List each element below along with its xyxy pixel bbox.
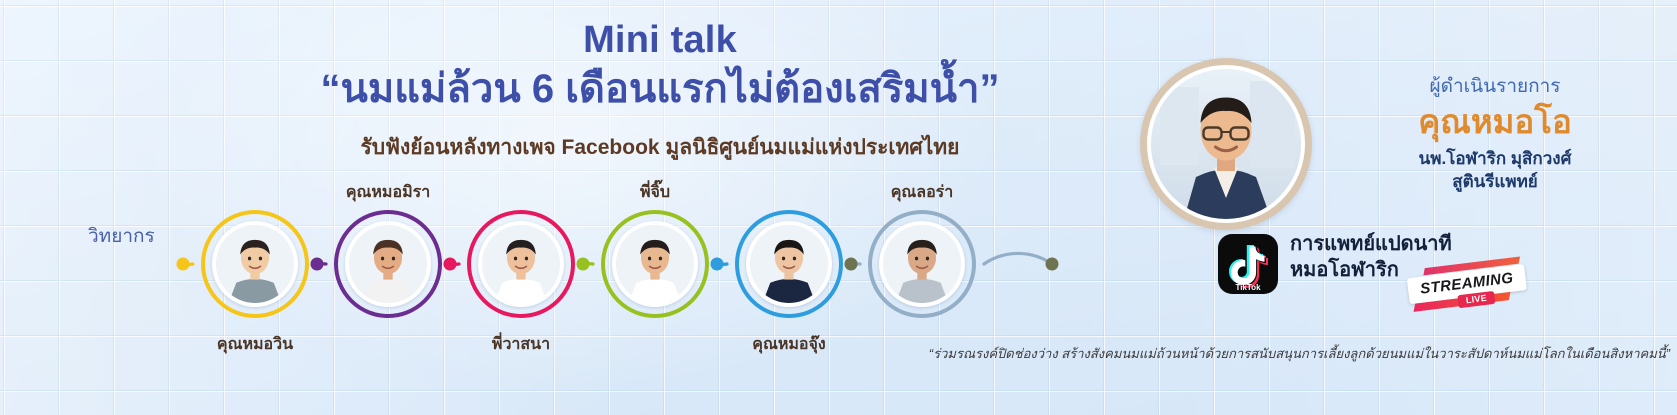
headline-block: Mini talk “นมแม่ล้วน 6 เดือนแรกไม่ต้องเส… [230,20,1090,164]
page-title-th: “นมแม่ล้วน 6 เดือนแรกไม่ต้องเสริมน้ำ” [230,64,1090,114]
speaker-name: พี่วาสนา [436,332,606,357]
speaker-name: คุณลอร่า [837,180,1007,205]
speaker-avatar[interactable] [746,221,832,307]
speaker-avatar[interactable] [612,221,698,307]
tiktok-icon[interactable]: TikTok [1218,234,1278,294]
speaker-name: คุณหมอมิรา [303,180,473,205]
event-banner: Mini talk “นมแม่ล้วน 6 เดือนแรกไม่ต้องเส… [0,0,1677,415]
host-name: คุณหมอโอ [1325,101,1665,142]
speaker-avatar[interactable] [345,221,431,307]
speaker-name: คุณหมอวิน [170,332,340,357]
page-title-en: Mini talk [230,20,1090,62]
timeline-arc [984,253,1052,264]
speaker-name: พี่จิ๊บ [570,180,740,205]
timeline-dot [444,258,457,271]
speaker-avatar[interactable] [478,221,564,307]
host-role: ผู้ดำเนินรายการ [1325,76,1665,99]
timeline-dot [577,258,590,271]
timeline-dot [311,258,324,271]
timeline-dot [845,258,858,271]
host-photo-frame [1140,58,1312,230]
speaker-avatar[interactable] [212,221,298,307]
speakers-timeline: วิทยากร คุณหมอวินคุณหมอมิราพี่วาสนาพี่จิ… [0,176,1060,351]
timeline-dot [711,258,724,271]
host-credential-line1: นพ.โอฬาริก มุสิกวงศ์ [1325,148,1665,171]
timeline-dot [1046,258,1059,271]
timeline-dot [177,258,190,271]
tiktok-wordmark: TikTok [1235,283,1261,292]
host-text-block: ผู้ดำเนินรายการ คุณหมอโอ นพ.โอฬาริก มุสิ… [1325,76,1665,194]
host-credential-line2: สูตินรีแพทย์ [1325,171,1665,194]
avatar [1151,69,1301,219]
speaker-avatar[interactable] [879,221,965,307]
footer-note: “ร่วมรณรงค์ปิดช่องว่าง สร้างสังคมนมแม่ถ้… [840,343,1670,364]
channel-row: TikTok การแพทย์แปดนาที หมอโอฬาริก STREAM… [1218,228,1677,308]
channel-name-line1: การแพทย์แปดนาที [1290,231,1452,257]
page-subtitle: รับฟังย้อนหลังทางเพจ Facebook มูลนิธิศูน… [230,131,1090,164]
